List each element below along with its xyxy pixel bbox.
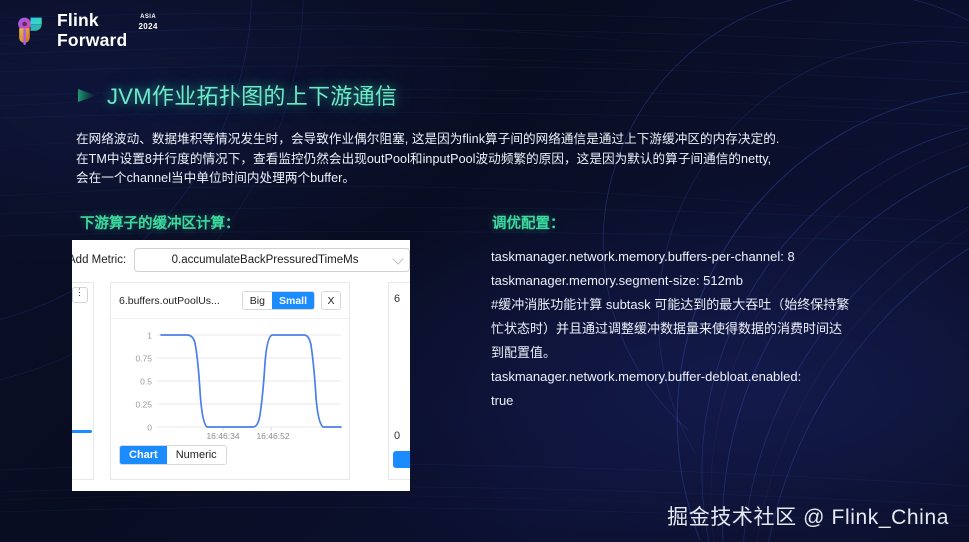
add-metric-value: 0.accumulateBackPressuredTimeMs [172, 254, 359, 266]
svg-text:16:46:52: 16:46:52 [256, 431, 289, 441]
metric-chart-svg: 1 0.75 0.5 0.25 0 16:46:34 16:46:52 [117, 323, 345, 441]
watermark: 掘金技术社区 @ Flink_China [667, 501, 949, 531]
config-line: taskmanager.memory.segment-size: 512mb [491, 269, 903, 293]
view-option-chart[interactable]: Chart [120, 446, 167, 464]
badge-year: 2024 [138, 22, 157, 31]
page-title: JVM作业拓扑图的上下游通信 [107, 79, 397, 111]
right-card-chart-button[interactable] [393, 451, 410, 468]
badge-region: ASIA [140, 14, 156, 20]
config-line: #缓冲消胀功能计算 subtask 可能达到的最大吞吐（始终保持繁 [491, 293, 903, 317]
config-line: taskmanager.network.memory.buffers-per-c… [491, 245, 903, 269]
metric-card-footer: Chart Numeric [111, 443, 349, 465]
svg-text:0.25: 0.25 [135, 400, 152, 410]
intro-paragraph: 在网络波动、数据堆积等情况发生时，会导致作业偶尔阻塞, 这是因为flink算子间… [76, 130, 951, 189]
close-icon[interactable]: X [321, 291, 341, 310]
right-card-axis-zero: 0 [394, 430, 400, 442]
view-option-numeric[interactable]: Numeric [167, 446, 226, 464]
left-card-glyph: ⋮ [75, 287, 84, 298]
svg-text:0: 0 [147, 423, 152, 433]
tuning-config-block: taskmanager.network.memory.buffers-per-c… [491, 245, 903, 413]
add-metric-label: Add Metric: [72, 254, 126, 266]
section-heading-left: 下游算子的缓冲区计算： [80, 212, 240, 233]
intro-line: 在网络波动、数据堆积等情况发生时，会导致作业偶尔阻塞, 这是因为flink算子间… [76, 130, 951, 150]
size-option-small[interactable]: Small [272, 292, 314, 309]
brand-line-1: Flink [57, 10, 99, 30]
right-card-metric-prefix: 6 [394, 293, 400, 305]
left-card-series-line [72, 430, 92, 433]
brand-logo: Flink Forward ASIA 2024 [14, 12, 158, 49]
intro-line: 会在一个channel当中单位时间内处理两个buffer。 [76, 169, 951, 189]
metric-card: 6.buffers.outPoolUs... Big Small X [110, 282, 350, 480]
triangle-right-icon [78, 88, 96, 103]
flink-forward-logo-icon [14, 14, 48, 48]
intro-line: 在TM中设置8并行度的情况下，查看监控仍然会出现outPool和inputPoo… [76, 150, 951, 170]
svg-text:16:46:34: 16:46:34 [206, 431, 239, 441]
metric-card-right-clipped[interactable]: 6 0 [388, 282, 410, 480]
svg-text:0.75: 0.75 [135, 354, 152, 364]
config-line: 到配置值。 [491, 341, 903, 365]
section-heading-right: 调优配置： [492, 212, 565, 233]
chart-gridlines [157, 335, 341, 427]
config-line: true [491, 389, 903, 413]
brand-edition-badge: ASIA 2024 [138, 14, 157, 31]
chart-y-tick-labels: 1 0.75 0.5 0.25 0 [135, 331, 152, 433]
svg-text:0.5: 0.5 [140, 377, 152, 387]
metric-card-header: 6.buffers.outPoolUs... Big Small X [111, 283, 349, 319]
brand-wordmark: Flink Forward [57, 12, 127, 49]
size-option-big[interactable]: Big [243, 292, 272, 309]
slide-title-row: JVM作业拓扑图的上下游通信 [78, 79, 397, 111]
chevron-down-icon [392, 253, 403, 264]
size-toggle-group[interactable]: Big Small [242, 291, 315, 310]
config-line: 忙状态时）并且通过调整缓冲数据量来使得数据的消费时间达 [491, 317, 903, 341]
add-metric-row: Add Metric: 0.accumulateBackPressuredTim… [72, 245, 410, 275]
add-metric-select[interactable]: 0.accumulateBackPressuredTimeMs [134, 248, 410, 272]
brand-line-2: Forward [57, 32, 127, 50]
metric-card-title: 6.buffers.outPoolUs... [119, 295, 242, 307]
flink-metrics-screenshot: Add Metric: 0.accumulateBackPressuredTim… [72, 240, 410, 491]
metric-chart: 1 0.75 0.5 0.25 0 16:46:34 16:46:52 [117, 323, 343, 443]
view-toggle-group[interactable]: Chart Numeric [119, 445, 227, 465]
chart-x-tick-labels: 16:46:34 16:46:52 [206, 431, 289, 441]
metric-card-left-clipped[interactable]: ⋮ [72, 282, 94, 480]
svg-text:1: 1 [147, 331, 152, 341]
config-line: taskmanager.network.memory.buffer-debloa… [491, 365, 903, 389]
